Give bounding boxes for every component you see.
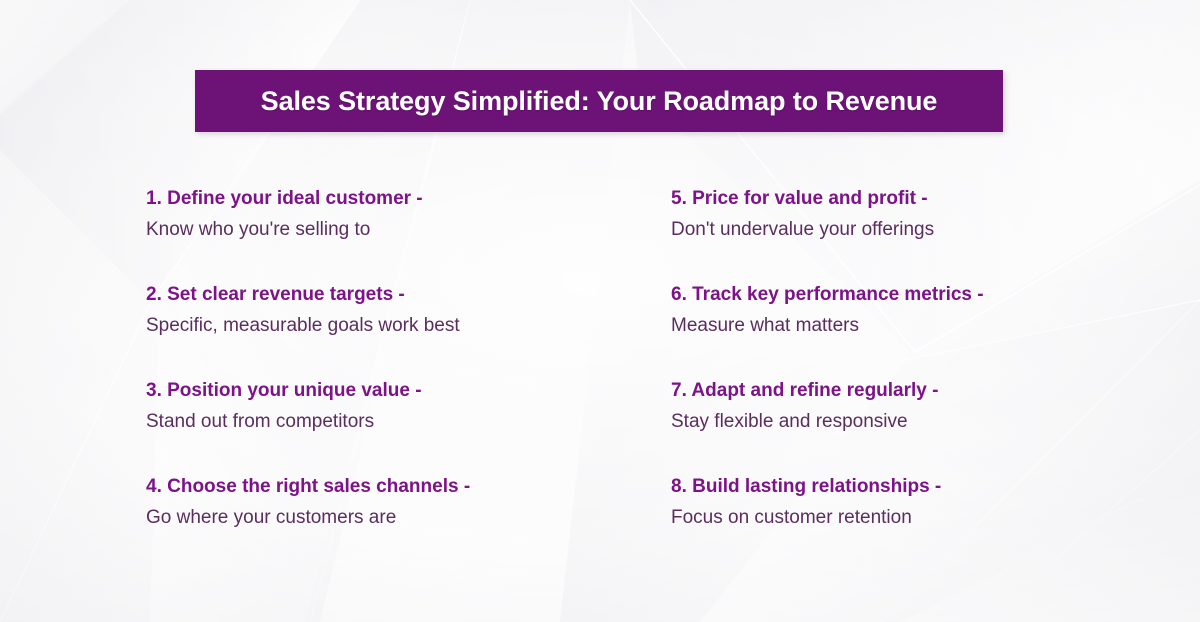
tip-subtitle: Focus on customer retention [671, 505, 1196, 531]
tip-subtitle: Go where your customers are [146, 505, 671, 531]
tip-heading: 3. Position your unique value - [146, 378, 671, 404]
tips-grid: 1. Define your ideal customer - Know who… [0, 186, 1200, 570]
title-banner: Sales Strategy Simplified: Your Roadmap … [195, 70, 1003, 132]
tip-subtitle: Measure what matters [671, 313, 1196, 339]
tip-heading: 8. Build lasting relationships - [671, 474, 1196, 500]
tip-subtitle: Stay flexible and responsive [671, 409, 1196, 435]
tip-subtitle: Know who you're selling to [146, 217, 671, 243]
tip-subtitle: Stand out from competitors [146, 409, 671, 435]
tip-subtitle: Don't undervalue your offerings [671, 217, 1196, 243]
tip-item-6: 6. Track key performance metrics - Measu… [671, 282, 1196, 343]
tip-item-3: 3. Position your unique value - Stand ou… [146, 378, 671, 439]
infographic-canvas: Sales Strategy Simplified: Your Roadmap … [0, 0, 1200, 622]
tip-item-4: 4. Choose the right sales channels - Go … [146, 474, 671, 535]
tip-heading: 5. Price for value and profit - [671, 186, 1196, 212]
tip-heading: 7. Adapt and refine regularly - [671, 378, 1196, 404]
tip-heading: 6. Track key performance metrics - [671, 282, 1196, 308]
page-title: Sales Strategy Simplified: Your Roadmap … [261, 86, 938, 117]
tip-item-7: 7. Adapt and refine regularly - Stay fle… [671, 378, 1196, 439]
tip-heading: 2. Set clear revenue targets - [146, 282, 671, 308]
tip-item-1: 1. Define your ideal customer - Know who… [146, 186, 671, 247]
tip-item-2: 2. Set clear revenue targets - Specific,… [146, 282, 671, 343]
tip-heading: 4. Choose the right sales channels - [146, 474, 671, 500]
tip-subtitle: Specific, measurable goals work best [146, 313, 671, 339]
tip-item-8: 8. Build lasting relationships - Focus o… [671, 474, 1196, 535]
tip-item-5: 5. Price for value and profit - Don't un… [671, 186, 1196, 247]
tip-heading: 1. Define your ideal customer - [146, 186, 671, 212]
